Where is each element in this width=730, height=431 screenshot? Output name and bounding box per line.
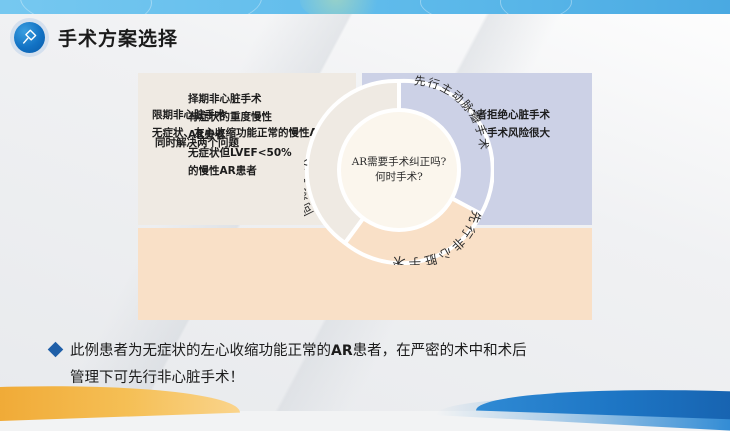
slide-canvas: 手术方案选择 同时解决两个问题 择期非心脏手术 有症状的重度慢性 AR患者 无症… bbox=[0, 0, 730, 411]
conclusion-bullet: 此例患者为无症状的左心收缩功能正常的AR患者，在严密的术中和术后管理下可先行非心… bbox=[50, 338, 705, 392]
conclusion-line1-c: 患者，在严密的术中和术后 bbox=[353, 343, 527, 359]
donut-chart: 同期手术 先行主动脉瓣手术 先行非心脏手术 AR需要手术纠正吗? 何时手术? bbox=[304, 75, 494, 265]
page-title: 手术方案选择 bbox=[58, 24, 178, 51]
top-decorative-band bbox=[0, 0, 730, 14]
conclusion-text: 此例患者为无症状的左心收缩功能正常的AR患者，在严密的术中和术后管理下可先行非心… bbox=[70, 338, 527, 392]
donut-hub bbox=[341, 112, 457, 228]
diamond-bullet-icon bbox=[48, 342, 64, 358]
conclusion-line1-a: 此例患者为无症状的左心收缩功能正常的 bbox=[70, 343, 331, 359]
surgery-strategy-diagram: 同时解决两个问题 择期非心脏手术 有症状的重度慢性 AR患者 无症状但LVEF<… bbox=[138, 73, 592, 320]
slide-header: 手术方案选择 bbox=[14, 22, 178, 53]
band-swirl-2 bbox=[20, 0, 262, 14]
pin-icon bbox=[14, 22, 45, 53]
band-swirl-4 bbox=[500, 0, 730, 14]
conclusion-line2: 管理下可先行非心脏手术！ bbox=[70, 370, 244, 386]
band-blob bbox=[300, 0, 390, 14]
conclusion-line1-b: AR bbox=[331, 343, 353, 359]
